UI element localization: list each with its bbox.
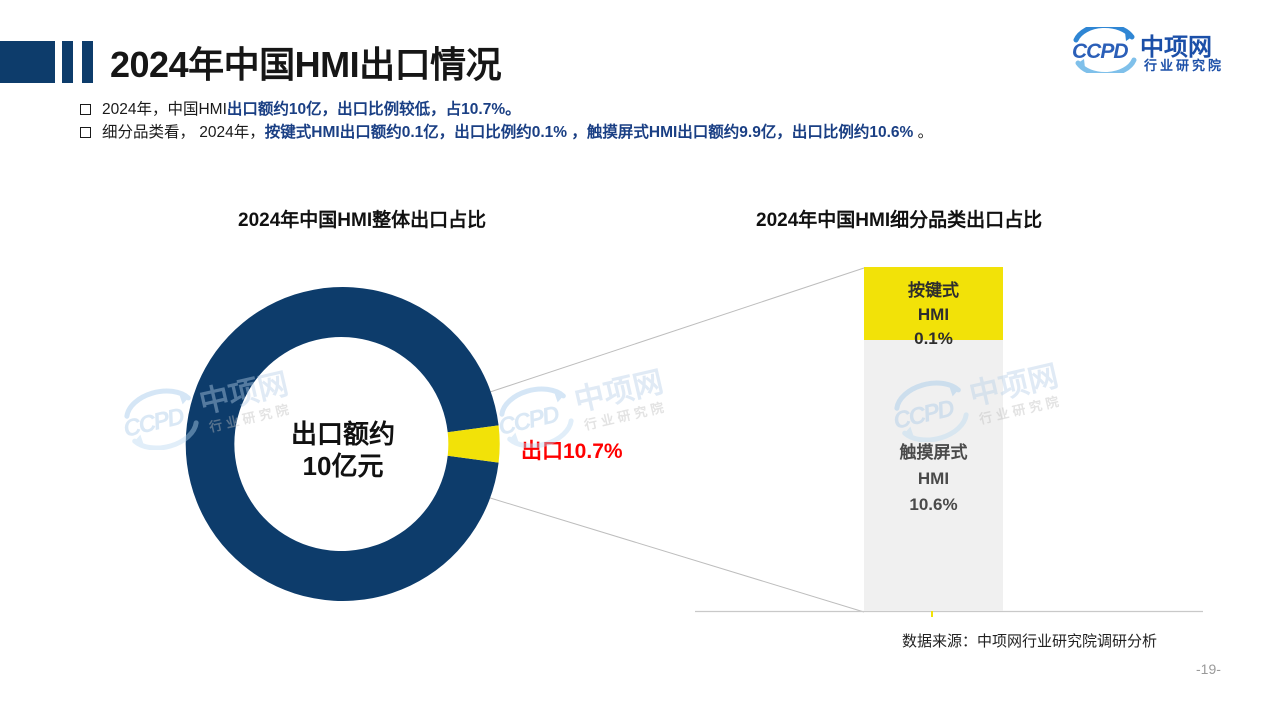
donut-center-label: 出口额约 10亿元 [243,418,443,482]
logo-ccpd-text: CCPD [1072,40,1128,63]
list-item: 2024年，中国HMI出口额约10亿，出口比例较低，占10.7%。 [80,98,1220,121]
watermark-arc-icon [893,377,970,442]
bar-label-touchscreen-line-3: 10.6% [864,492,1003,518]
watermark: CCPD 中项网 行业研究院 [880,362,1110,442]
bullet-1-seg-1: 出口额约10亿，出口比例较低，占10.7%。 [227,101,521,118]
header-accent-bar-1 [62,41,73,83]
watermark-ccpd-text: CCPD [121,403,187,443]
bar-label-keypad-line-1: 按键式 [864,279,1003,303]
bar-label-touchscreen-line-2: HMI [864,466,1003,492]
bar-label-keypad-line-3: 0.1% [864,327,1003,351]
bar-label-touchscreen: 触摸屏式 HMI 10.6% [864,440,1003,518]
watermark-name-cn: 中项网 [571,368,666,418]
bar-label-keypad: 按键式 HMI 0.1% [864,279,1003,351]
page-number: -19- [1196,661,1221,677]
donut-center-line-1: 出口额约 [243,418,443,450]
callout-connector-bottom [487,497,864,612]
export-callout-label: 出口10.7% [521,435,623,465]
bar-label-touchscreen-line-1: 触摸屏式 [864,440,1003,466]
page-title: 2024年中国HMI出口情况 [110,36,501,88]
bullet-2-seg-0: 细分品类看， 2024年， [102,124,265,141]
slide: 2024年中国HMI出口情况 CCPD 中项网 行业研究院 2024年，中国HM… [0,0,1267,713]
bullet-list: 2024年，中国HMI出口额约10亿，出口比例较低，占10.7%。 细分品类看，… [80,98,1220,144]
watermark-sub-cn: 行业研究院 [582,399,669,433]
donut-slice-export [448,425,500,462]
logo-sub-cn: 行业研究院 [1143,58,1224,73]
watermark-ccpd-text: CCPD [891,395,957,435]
square-bullet-icon [80,127,91,138]
watermark-arc-icon [123,385,200,450]
watermark-sub-cn: 行业研究院 [977,393,1064,427]
header-accent-bar-2 [82,41,93,83]
bar-label-keypad-line-2: HMI [864,303,1003,327]
header-accent-block [0,41,55,83]
watermark-name-cn: 中项网 [196,370,291,420]
bullet-1-seg-0: 2024年，中国HMI [102,101,227,118]
source-note: 数据来源：中项网行业研究院调研分析 [902,630,1157,651]
bullet-2-seg-1: 按键式HMI出口额约0.1亿，出口比例约0.1% ，触摸屏式HMI出口额约9.9… [265,124,914,141]
watermark-name-cn: 中项网 [966,362,1061,412]
callout-connector-top [487,268,864,393]
bullet-2-seg-2: 。 [913,124,933,141]
bullet-2-text: 细分品类看， 2024年，按键式HMI出口额约0.1亿，出口比例约0.1% ，触… [102,121,933,144]
ccpd-logo: CCPD 中项网 行业研究院 [1062,27,1242,73]
list-item: 细分品类看， 2024年，按键式HMI出口额约0.1亿，出口比例约0.1% ，触… [80,121,1220,144]
left-chart-title: 2024年中国HMI整体出口占比 [238,205,486,232]
donut-center-line-2: 10亿元 [243,450,443,482]
square-bullet-icon [80,104,91,115]
watermark-svg: CCPD 中项网 行业研究院 [880,362,1110,442]
bullet-1-text: 2024年，中国HMI出口额约10亿，出口比例较低，占10.7%。 [102,98,521,121]
logo-svg: CCPD 中项网 行业研究院 [1062,27,1242,73]
logo-name-cn: 中项网 [1140,34,1212,61]
right-chart-title: 2024年中国HMI细分品类出口占比 [756,205,1042,232]
